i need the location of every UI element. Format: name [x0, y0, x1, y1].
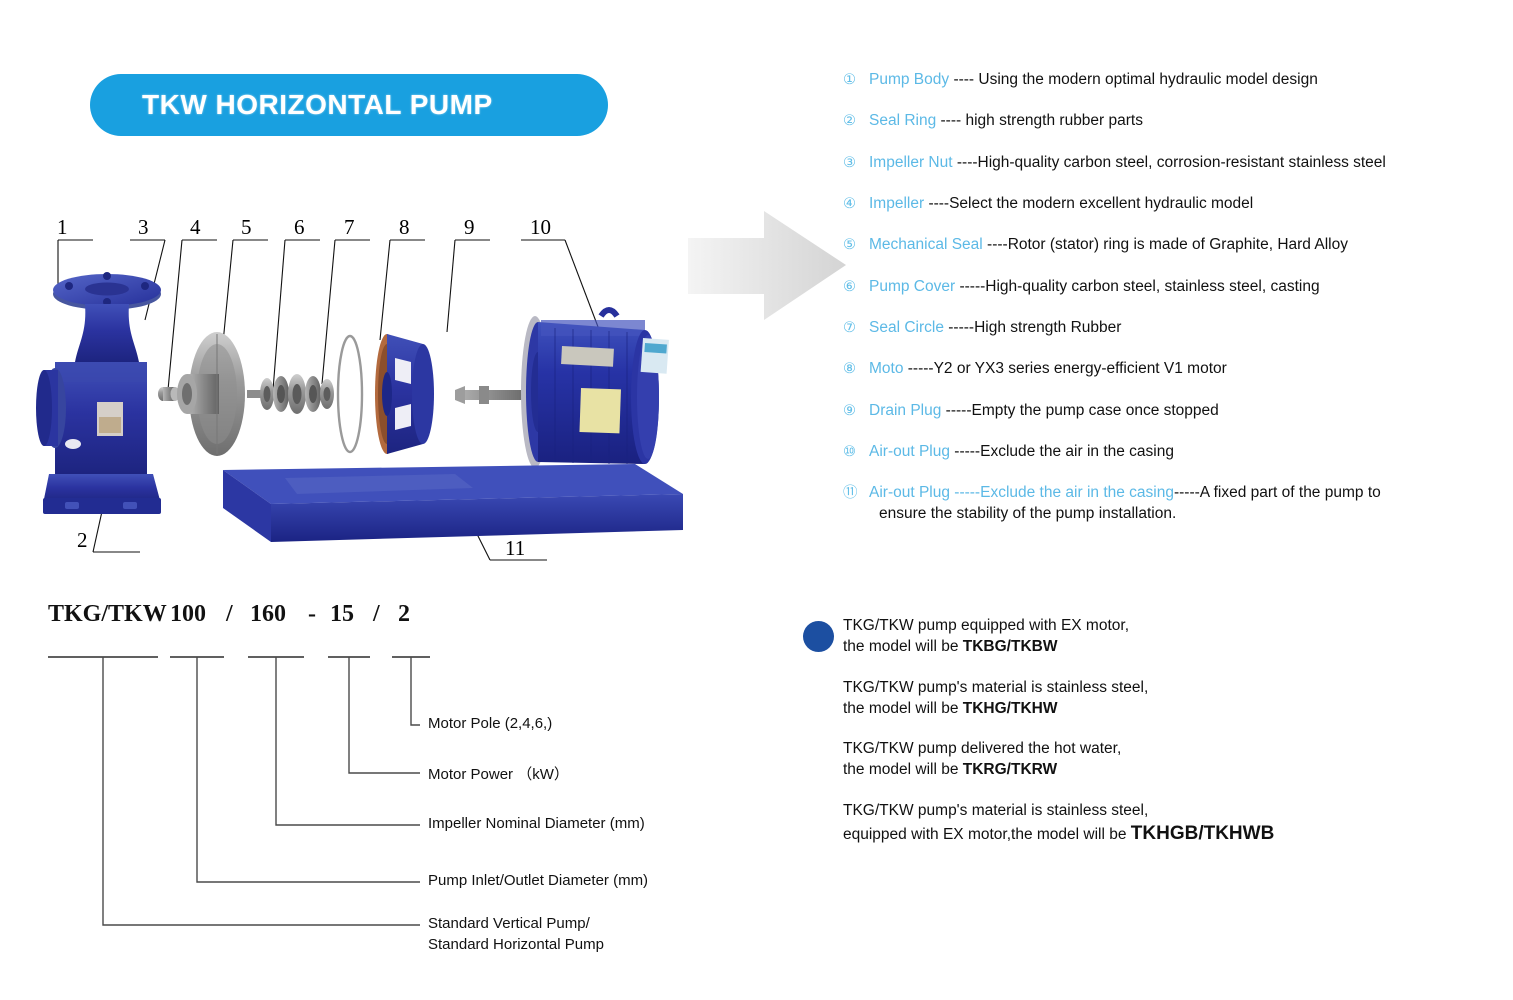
- pump-casing-part: [36, 272, 161, 514]
- legend-sep-5: ----: [983, 236, 1008, 253]
- note-model-2: TKHG/TKHW: [963, 700, 1058, 717]
- legend-desc-8: Y2 or YX3 series energy-efficient V1 mot…: [934, 360, 1227, 377]
- right-arrow-icon: [688, 208, 848, 323]
- legend-number-9: ⑨: [843, 401, 869, 421]
- note-line-2: the model will be TKBG/TKBW: [843, 639, 1483, 655]
- legend-desc-1: Using the modern optimal hydraulic model…: [978, 71, 1317, 88]
- note-line-3: TKG/TKW pump's material is stainless ste…: [843, 680, 1483, 696]
- seal-circle-part: [338, 336, 362, 452]
- legend-sep-1: ----: [949, 71, 978, 88]
- legend-term-7: Seal Circle: [869, 319, 944, 336]
- note-line-1: TKG/TKW pump equipped with EX motor,: [843, 618, 1483, 634]
- legend-number-2: ②: [843, 111, 869, 131]
- pump-exploded-illustration: 1 3 4 5 6 7 8 9 10 2 11: [35, 212, 695, 572]
- legend-number-7: ⑦: [843, 318, 869, 338]
- model-label-impeller-diameter: Impeller Nominal Diameter (mm): [428, 815, 645, 832]
- legend-term-11: Air-out Plug: [869, 484, 950, 501]
- legend-desc-5: Rotor (stator) ring is made of Graphite,…: [1008, 236, 1348, 253]
- legend-desc-11: A fixed part of the pump to: [1200, 484, 1381, 501]
- legend-number-1: ①: [843, 70, 869, 90]
- legend-term-5: Mechanical Seal: [869, 236, 983, 253]
- legend-sep2-11: -----: [1174, 484, 1200, 501]
- legend-item-5: ⑤ Mechanical Seal ----Rotor (stator) rin…: [843, 235, 1503, 255]
- legend-desc-7: High strength Rubber: [974, 319, 1121, 336]
- base-plate-part: [223, 464, 683, 542]
- legend-term-8: Moto: [869, 360, 903, 377]
- legend-number-6: ⑥: [843, 277, 869, 297]
- legend-sep-9: -----: [941, 402, 971, 419]
- model-variant-notes: TKG/TKW pump equipped with EX motor, the…: [843, 618, 1483, 844]
- model-label-motor-power: Motor Power （kW）: [428, 763, 569, 784]
- motor-part: [455, 310, 669, 468]
- callout-10: 10: [530, 215, 551, 239]
- model-code-diagram: TKG/TKW 100 / 160 - 15 / 2 Motor Pole: [30, 595, 730, 960]
- legend-number-11: ⑪: [843, 483, 869, 503]
- callout-5: 5: [241, 215, 252, 239]
- callout-11: 11: [505, 536, 525, 560]
- legend-sep-11: -----: [950, 484, 980, 501]
- note-line-6: the model will be TKRG/TKRW: [843, 762, 1483, 778]
- legend-sep-3: ----: [953, 154, 978, 171]
- legend-term-9: Drain Plug: [869, 402, 941, 419]
- callout-6: 6: [294, 215, 305, 239]
- note-line-8: equipped with EX motor,the model will be…: [843, 824, 1483, 844]
- legend-term-6: Pump Cover: [869, 278, 955, 295]
- legend-term-1: Pump Body: [869, 71, 949, 88]
- legend-term-4: Impeller: [869, 195, 924, 212]
- legend-item-11-continuation: ensure the stability of the pump install…: [843, 505, 1503, 523]
- legend-number-10: ⑩: [843, 442, 869, 462]
- note-model-1: TKBG/TKBW: [963, 638, 1058, 655]
- legend-desc-3: High-quality carbon steel, corrosion-res…: [978, 154, 1386, 171]
- legend-sep-10: -----: [950, 443, 980, 460]
- legend-item-10: ⑩ Air-out Plug -----Exclude the air in t…: [843, 442, 1503, 462]
- model-code-leader-lines: [30, 595, 730, 960]
- legend-term-2: Seal Ring: [869, 112, 936, 129]
- callout-1: 1: [57, 215, 68, 239]
- legend-number-5: ⑤: [843, 235, 869, 255]
- legend-desc-10: Exclude the air in the casing: [980, 443, 1174, 460]
- legend-number-4: ④: [843, 194, 869, 214]
- legend-item-1: ① Pump Body ---- Using the modern optima…: [843, 70, 1503, 90]
- legend-desc-9: Empty the pump case once stopped: [972, 402, 1219, 419]
- mechanical-seal-part: [247, 374, 334, 414]
- legend-item-3: ③ Impeller Nut ----High-quality carbon s…: [843, 153, 1503, 173]
- legend-item-6: ⑥ Pump Cover -----High-quality carbon st…: [843, 277, 1503, 297]
- legend-desc-4: Select the modern excellent hydraulic mo…: [949, 195, 1253, 212]
- page-title-badge: TKW HORIZONTAL PUMP: [90, 74, 608, 136]
- note-model-3: TKRG/TKRW: [963, 761, 1057, 778]
- pump-cover-part: [375, 334, 434, 454]
- legend-item-7: ⑦ Seal Circle -----High strength Rubber: [843, 318, 1503, 338]
- legend-item-9: ⑨ Drain Plug -----Empty the pump case on…: [843, 401, 1503, 421]
- callout-3: 3: [138, 215, 149, 239]
- legend-sep-6: -----: [955, 278, 985, 295]
- legend-item-4: ④ Impeller ----Select the modern excelle…: [843, 194, 1503, 214]
- legend-desc-6: High-quality carbon steel, stainless ste…: [985, 278, 1319, 295]
- legend-term-3: Impeller Nut: [869, 154, 953, 171]
- legend-sep-7: -----: [944, 319, 974, 336]
- callout-4: 4: [190, 215, 201, 239]
- impeller-nut-part: [158, 387, 180, 401]
- legend-item-2: ② Seal Ring ---- high strength rubber pa…: [843, 111, 1503, 131]
- callout-2: 2: [77, 528, 88, 552]
- parts-legend-list: ① Pump Body ---- Using the modern optima…: [843, 70, 1503, 523]
- page-title: TKW HORIZONTAL PUMP: [90, 89, 493, 121]
- legend-sep-8: -----: [903, 360, 933, 377]
- callout-7: 7: [344, 215, 355, 239]
- legend-item-8: ⑧ Moto -----Y2 or YX3 series energy-effi…: [843, 359, 1503, 379]
- model-label-standard-horizontal: Standard Horizontal Pump: [428, 936, 604, 953]
- note-line-7: TKG/TKW pump's material is stainless ste…: [843, 803, 1483, 819]
- note-line-5: TKG/TKW pump delivered the hot water,: [843, 741, 1483, 757]
- note-bullet-icon: [803, 621, 834, 652]
- legend-sep-4: ----: [924, 195, 949, 212]
- legend-number-3: ③: [843, 153, 869, 173]
- legend-item-11: ⑪ Air-out Plug -----Exclude the air in t…: [843, 483, 1503, 503]
- legend-sep-2: ----: [936, 112, 965, 129]
- model-label-inlet-diameter: Pump Inlet/Outlet Diameter (mm): [428, 872, 648, 889]
- callout-9: 9: [464, 215, 475, 239]
- legend-term-10: Air-out Plug: [869, 443, 950, 460]
- note-model-4: TKHGB/TKHWB: [1131, 823, 1275, 844]
- model-label-standard-vertical: Standard Vertical Pump/: [428, 915, 590, 932]
- impeller-part: [177, 332, 245, 456]
- legend-blue-desc-11: Exclude the air in the casing: [980, 484, 1174, 501]
- callout-8: 8: [399, 215, 410, 239]
- legend-number-8: ⑧: [843, 359, 869, 379]
- model-label-motor-pole: Motor Pole (2,4,6,): [428, 715, 552, 732]
- note-line-4: the model will be TKHG/TKHW: [843, 701, 1483, 717]
- legend-desc-2: high strength rubber parts: [965, 112, 1143, 129]
